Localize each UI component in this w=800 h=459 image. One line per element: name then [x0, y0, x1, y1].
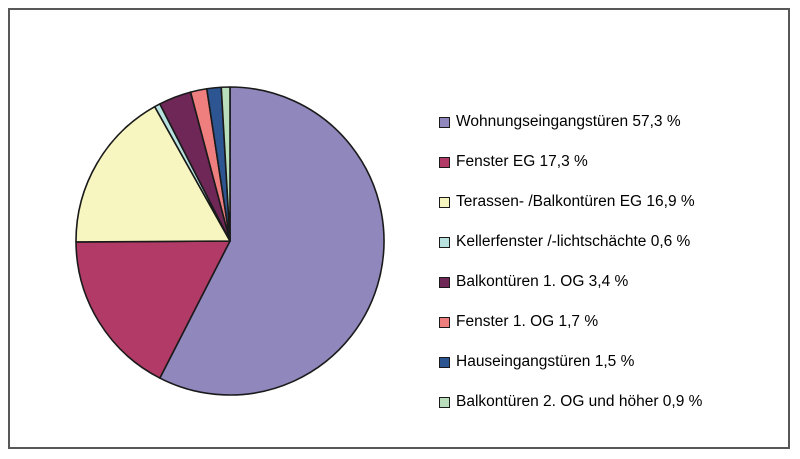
legend-item-label: Balkontüren 1. OG 3,4 %	[456, 274, 628, 290]
legend-item[interactable]: Kellerfenster /-lichtschächte 0,6 %	[439, 222, 784, 262]
pie-chart-svg	[75, 86, 385, 396]
legend-swatch-hauseingangstueren	[439, 357, 450, 368]
legend-item-label: Fenster 1. OG 1,7 %	[456, 314, 598, 330]
legend-swatch-fenster-eg	[439, 157, 450, 168]
legend-swatch-kellerfenster-lichtschaechte	[439, 237, 450, 248]
pie-chart-figure: Wohnungseingangstüren 57,3 %Fenster EG 1…	[0, 0, 800, 459]
legend-swatch-wohnungseingangstueren	[439, 117, 450, 128]
legend-item[interactable]: Wohnungseingangstüren 57,3 %	[439, 102, 784, 142]
legend-item-label: Wohnungseingangstüren 57,3 %	[456, 114, 681, 130]
legend-item-label: Fenster EG 17,3 %	[456, 154, 588, 170]
chart-legend: Wohnungseingangstüren 57,3 %Fenster EG 1…	[439, 102, 784, 422]
pie-chart-plot-area	[75, 86, 385, 396]
legend-item-label: Balkontüren 2. OG und höher 0,9 %	[456, 394, 702, 410]
legend-item[interactable]: Fenster EG 17,3 %	[439, 142, 784, 182]
legend-item-label: Kellerfenster /-lichtschächte 0,6 %	[456, 234, 690, 250]
legend-swatch-balkontueren-1-og	[439, 277, 450, 288]
legend-item[interactable]: Hauseingangstüren 1,5 %	[439, 342, 784, 382]
legend-swatch-terassen-balkontueren-eg	[439, 197, 450, 208]
legend-swatch-balkontueren-2-og-und-hoeher	[439, 397, 450, 408]
legend-item[interactable]: Terassen- /Balkontüren EG 16,9 %	[439, 182, 784, 222]
legend-item[interactable]: Balkontüren 1. OG 3,4 %	[439, 262, 784, 302]
legend-swatch-fenster-1-og	[439, 317, 450, 328]
legend-item-label: Hauseingangstüren 1,5 %	[456, 354, 634, 370]
legend-item[interactable]: Fenster 1. OG 1,7 %	[439, 302, 784, 342]
pie-slice-group	[76, 87, 384, 395]
legend-item-label: Terassen- /Balkontüren EG 16,9 %	[456, 194, 695, 210]
figure-frame-border: Wohnungseingangstüren 57,3 %Fenster EG 1…	[8, 8, 790, 449]
legend-item[interactable]: Balkontüren 2. OG und höher 0,9 %	[439, 382, 784, 422]
